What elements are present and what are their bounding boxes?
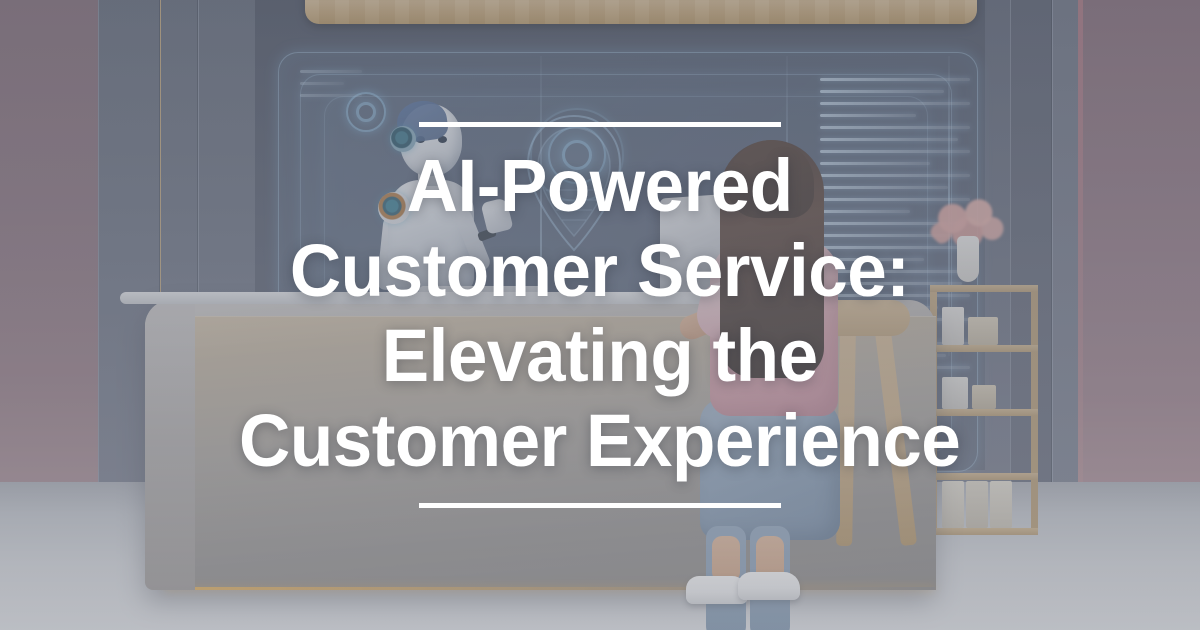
divider-bottom xyxy=(419,503,781,508)
headline-block: AI-Powered Customer Service: Elevating t… xyxy=(0,0,1200,630)
divider-top xyxy=(419,122,781,127)
social-banner: AI-Powered Customer Service: Elevating t… xyxy=(0,0,1200,630)
page-title: AI-Powered Customer Service: Elevating t… xyxy=(239,143,960,483)
